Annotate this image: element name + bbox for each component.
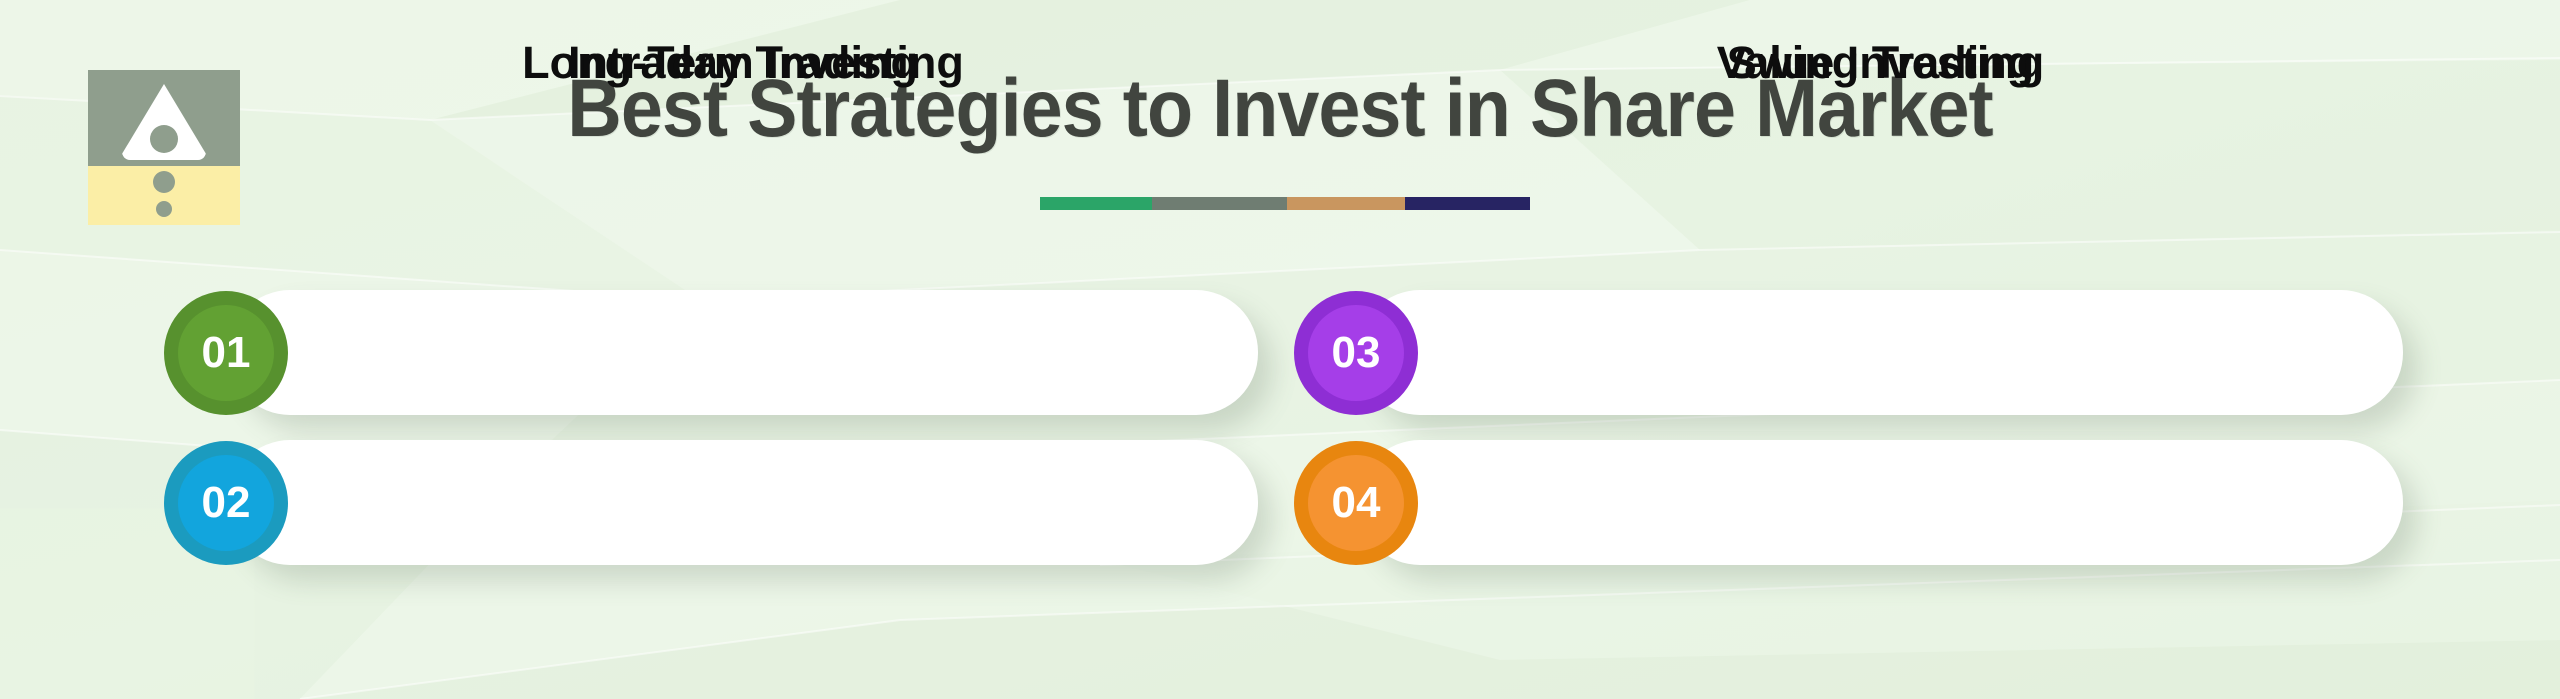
strategy-card[interactable] — [1358, 290, 2403, 415]
strategy-number-badge[interactable]: 02 — [164, 441, 288, 565]
strategy-number-text: 03 — [1294, 291, 1418, 415]
strategy-number-text: 02 — [164, 441, 288, 565]
strategy-card-grid: Long-Term Investing01Intraday Trading02S… — [0, 0, 2560, 699]
strategy-card[interactable] — [228, 440, 1258, 565]
strategy-card-label: Value Investing — [1358, 0, 2403, 125]
strategy-card[interactable] — [1358, 440, 2403, 565]
strategy-number-text: 04 — [1294, 441, 1418, 565]
strategy-number-badge[interactable]: 04 — [1294, 441, 1418, 565]
strategy-number-text: 01 — [164, 291, 288, 415]
strategy-number-badge[interactable]: 01 — [164, 291, 288, 415]
strategy-number-badge[interactable]: 03 — [1294, 291, 1418, 415]
strategy-card-label: Intraday Trading — [228, 0, 1258, 125]
strategy-card[interactable] — [228, 290, 1258, 415]
